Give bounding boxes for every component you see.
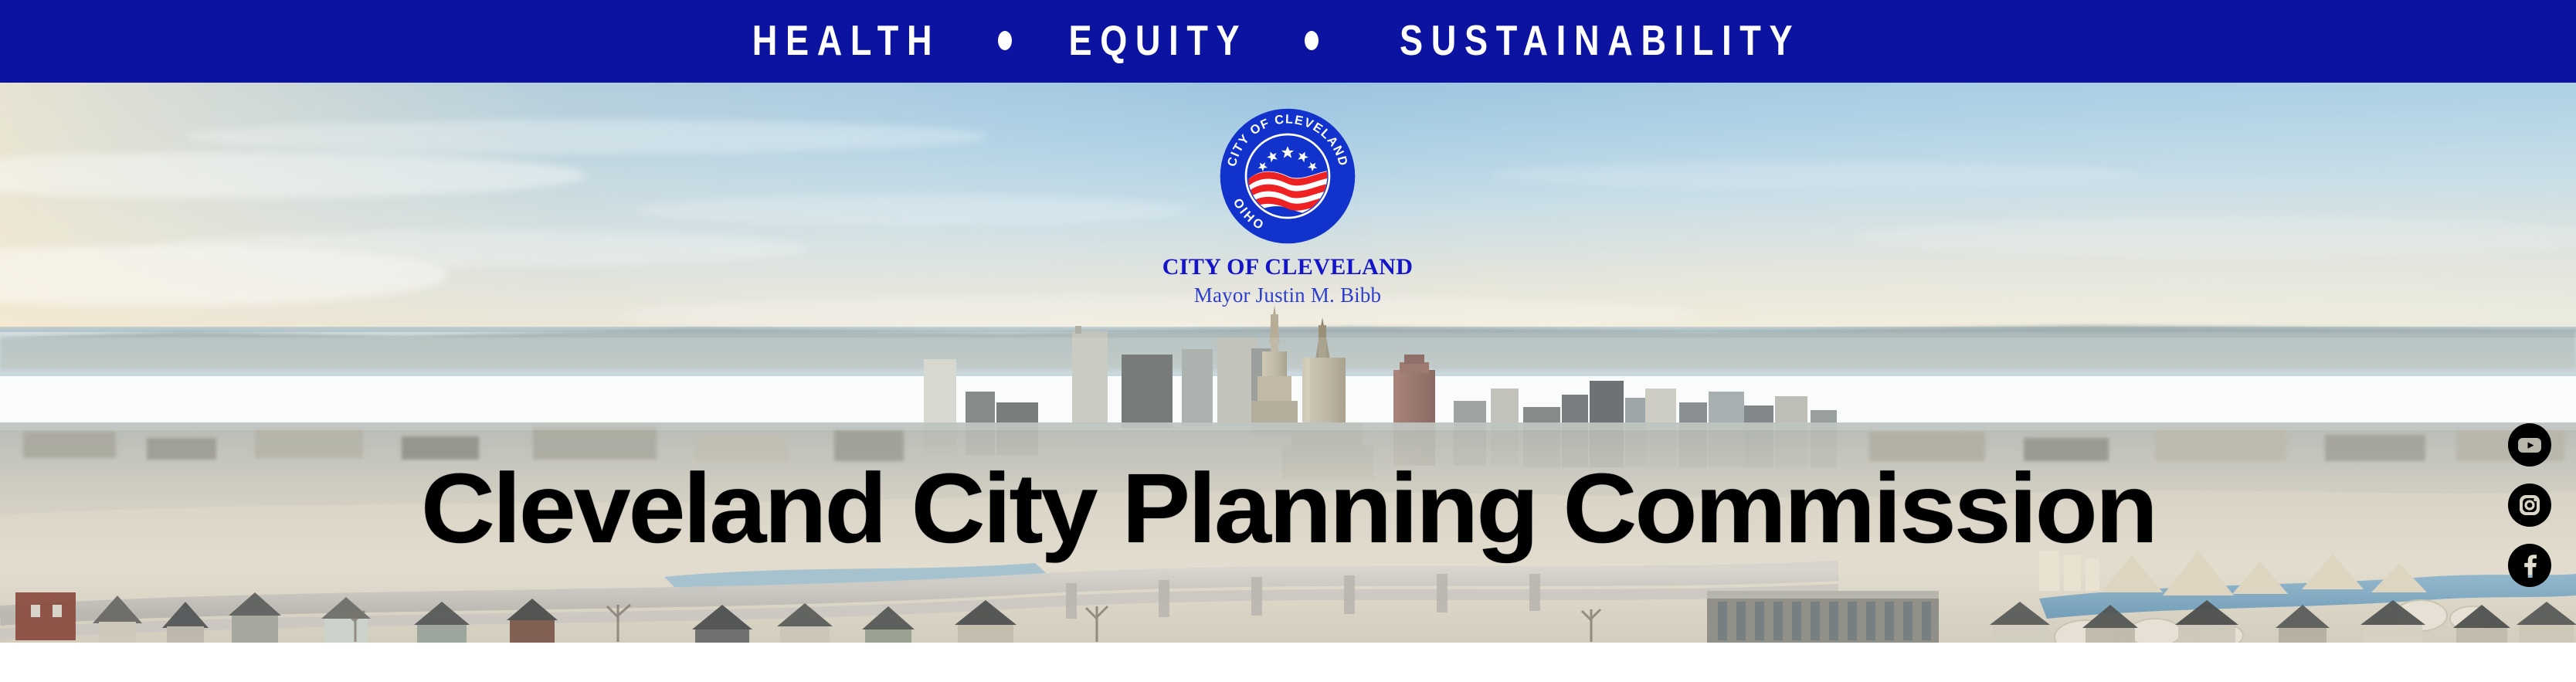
city-logo-lockup[interactable]: CITY OF CLEVELAND OHIO CITY OF CLEVELAND…	[1087, 107, 1488, 306]
instagram-icon	[2508, 484, 2551, 527]
social-media-rail	[2508, 423, 2551, 587]
tagline-word-equity: EQUITY	[1068, 19, 1247, 62]
tagline-banner-inner: HEALTH EQUITY SUSTAINABILITY	[731, 19, 1845, 62]
youtube-icon	[2508, 423, 2551, 467]
social-link-instagram[interactable]	[2508, 484, 2551, 527]
org-name-text: CITY OF CLEVELAND	[1087, 255, 1488, 280]
mayor-name-text: Mayor Justin M. Bibb	[1087, 284, 1488, 306]
page-root: HEALTH EQUITY SUSTAINABILITY	[0, 0, 2576, 682]
social-link-youtube[interactable]	[2508, 423, 2551, 467]
tagline-bullet-dot-1	[998, 31, 1012, 50]
tagline-word-sustainability: SUSTAINABILITY	[1400, 19, 1800, 62]
tagline-word-health: HEALTH	[752, 19, 941, 62]
social-link-facebook[interactable]	[2508, 544, 2551, 587]
facebook-icon	[2508, 544, 2551, 587]
tagline-bullet-dot-2	[1305, 31, 1319, 50]
tagline-banner: HEALTH EQUITY SUSTAINABILITY	[0, 0, 2576, 83]
city-of-cleveland-seal-icon: CITY OF CLEVELAND OHIO	[1218, 107, 1357, 246]
